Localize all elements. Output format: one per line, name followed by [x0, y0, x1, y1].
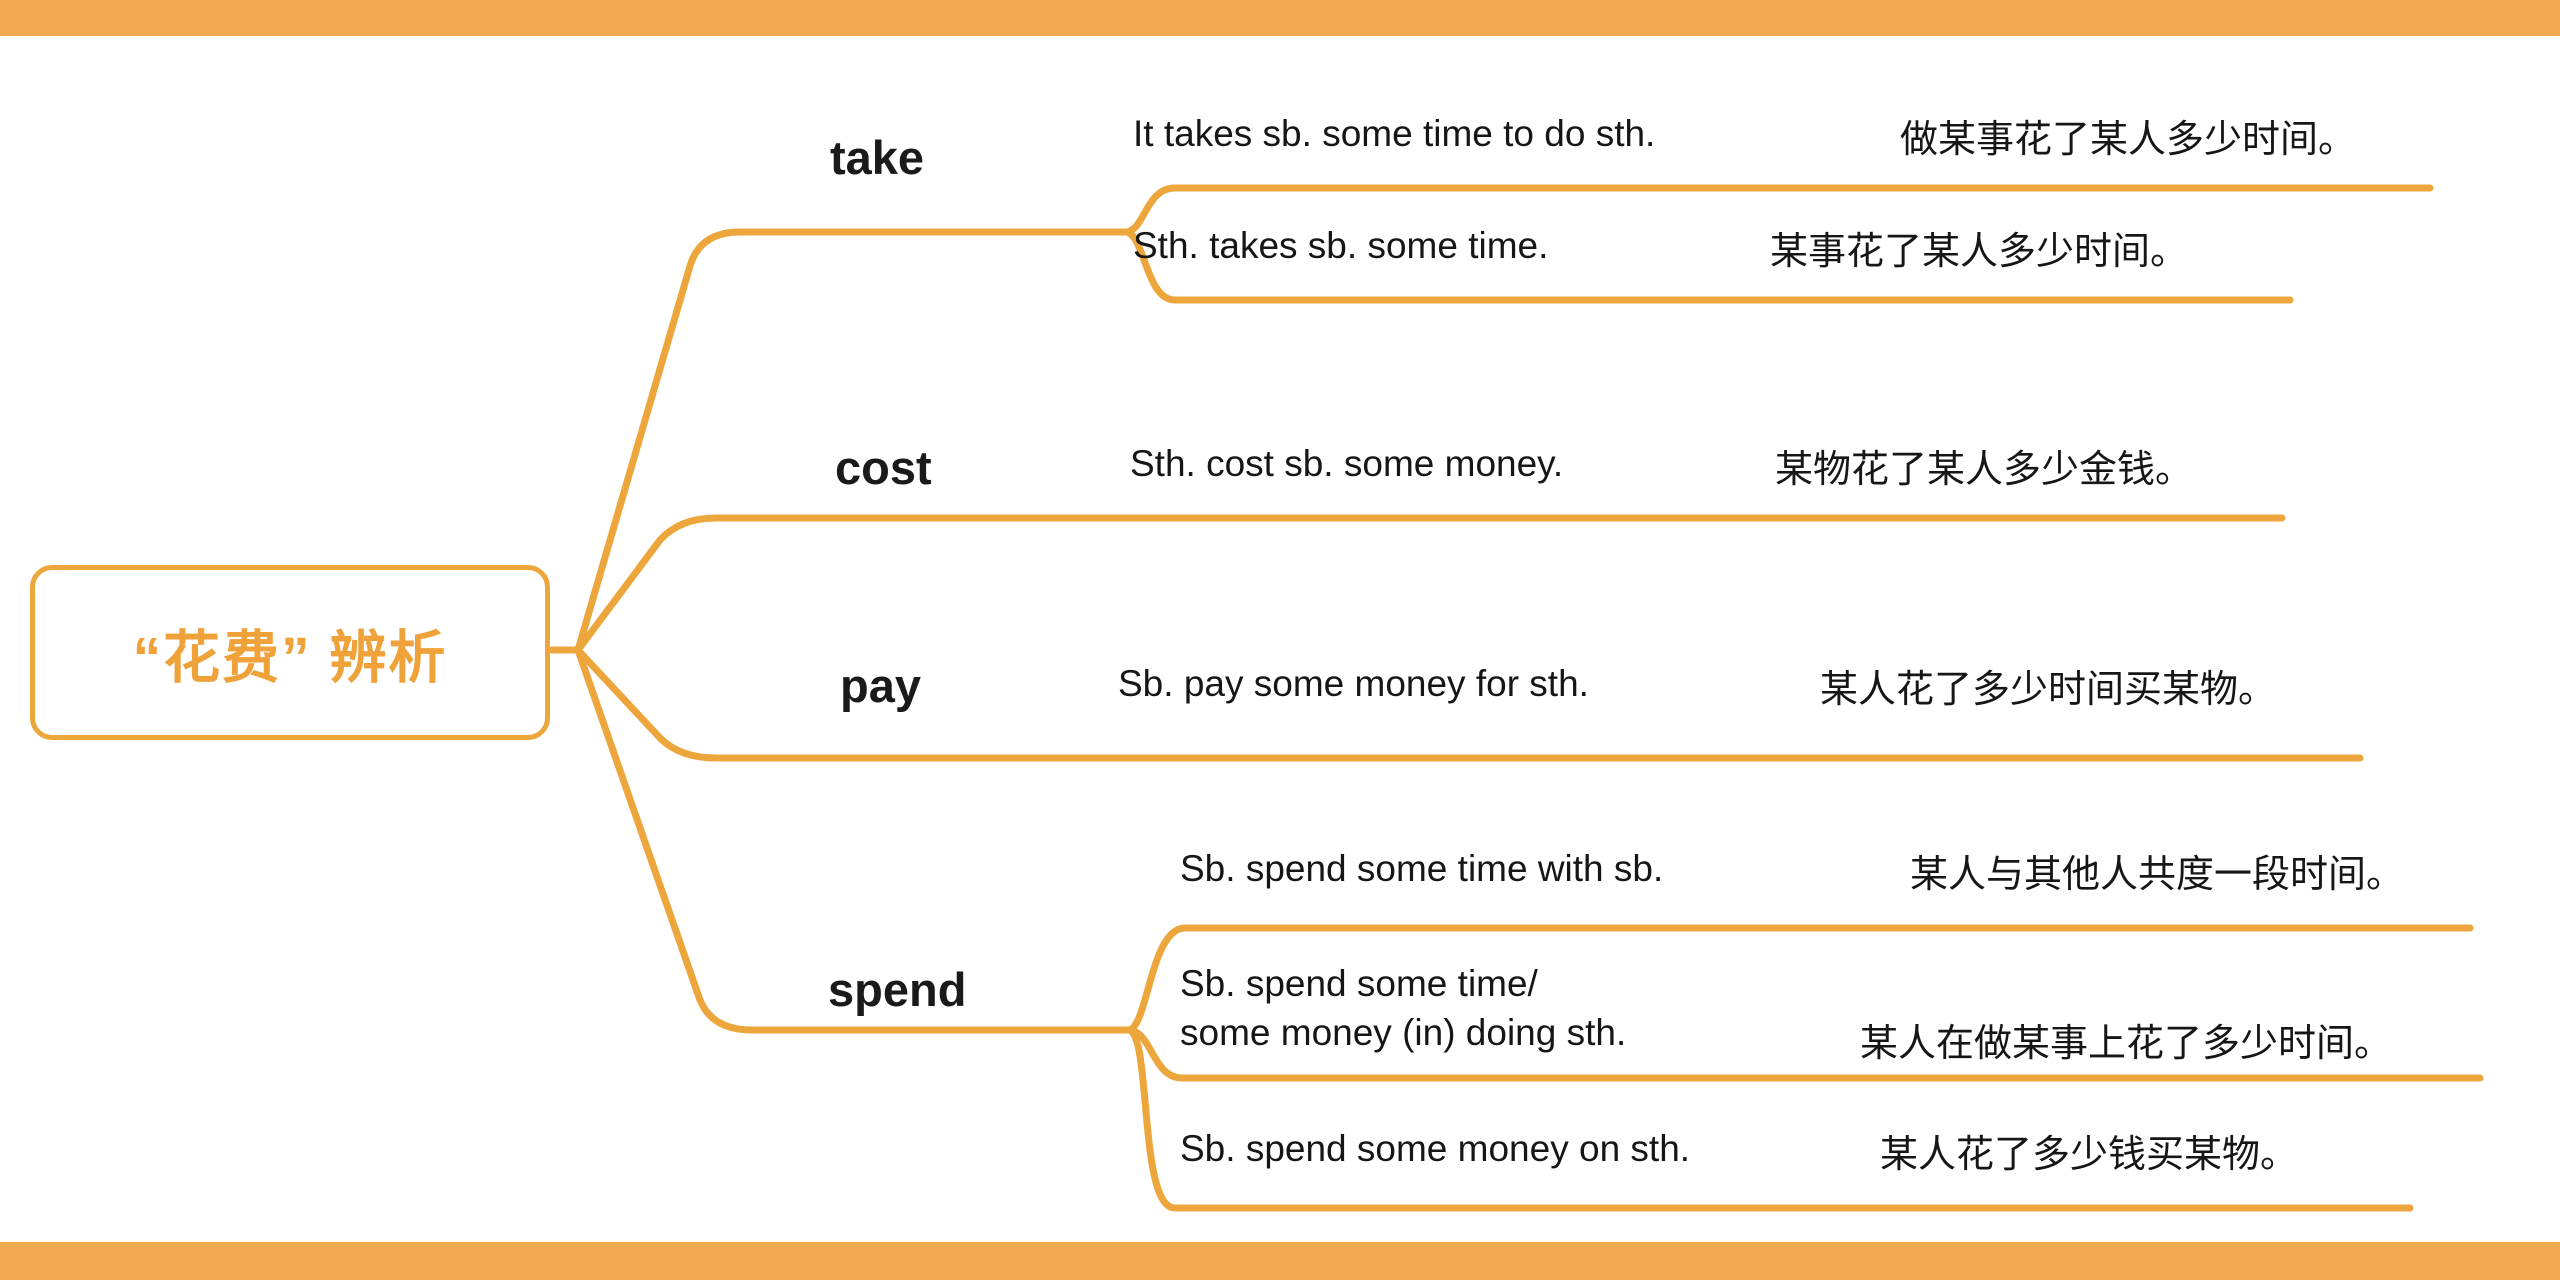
leaf-en-take-1: Sth. takes sb. some time.	[1133, 222, 1548, 271]
leaf-zh-take-0: 做某事花了某人多少时间。	[1900, 108, 2356, 163]
root-node-label: “花费” 辨析	[133, 612, 448, 694]
leaf-zh-spend-0: 某人与其他人共度一段时间。	[1910, 843, 2404, 898]
leaf-zh-pay-0: 某人花了多少时间买某物。	[1820, 658, 2276, 713]
leaf-zh-spend-1: 某人在做某事上花了多少时间。	[1860, 1012, 2392, 1067]
branch-label-spend[interactable]: spend	[828, 962, 966, 1017]
leaf-en-spend-2: Sb. spend some money on sth.	[1180, 1125, 1690, 1174]
branch-line-pay	[578, 650, 1000, 758]
leaf-zh-cost-0: 某物花了某人多少金钱。	[1775, 438, 2193, 493]
leaf-zh-spend-2: 某人花了多少钱买某物。	[1880, 1123, 2298, 1178]
top-accent-band	[0, 0, 2560, 36]
leaf-en-take-0: It takes sb. some time to do sth.	[1133, 110, 1655, 159]
leaf-en-cost-0: Sth. cost sb. some money.	[1130, 440, 1563, 489]
leaf-en-pay-0: Sb. pay some money for sth.	[1118, 660, 1589, 709]
branch-label-cost[interactable]: cost	[835, 440, 932, 495]
leaf-en-spend-0: Sb. spend some time with sb.	[1180, 845, 1663, 894]
branch-line-cost	[578, 518, 1000, 650]
leaf-zh-take-1: 某事花了某人多少时间。	[1770, 220, 2188, 275]
root-node[interactable]: “花费” 辨析	[30, 565, 550, 740]
branch-label-pay[interactable]: pay	[840, 658, 921, 713]
mindmap-canvas: “花费” 辨析 take cost pay spend It takes sb.…	[0, 0, 2560, 1280]
leaf-en-spend-1: Sb. spend some time/ some money (in) doi…	[1180, 960, 1626, 1058]
branch-label-take[interactable]: take	[830, 130, 924, 185]
bottom-accent-band	[0, 1242, 2560, 1280]
